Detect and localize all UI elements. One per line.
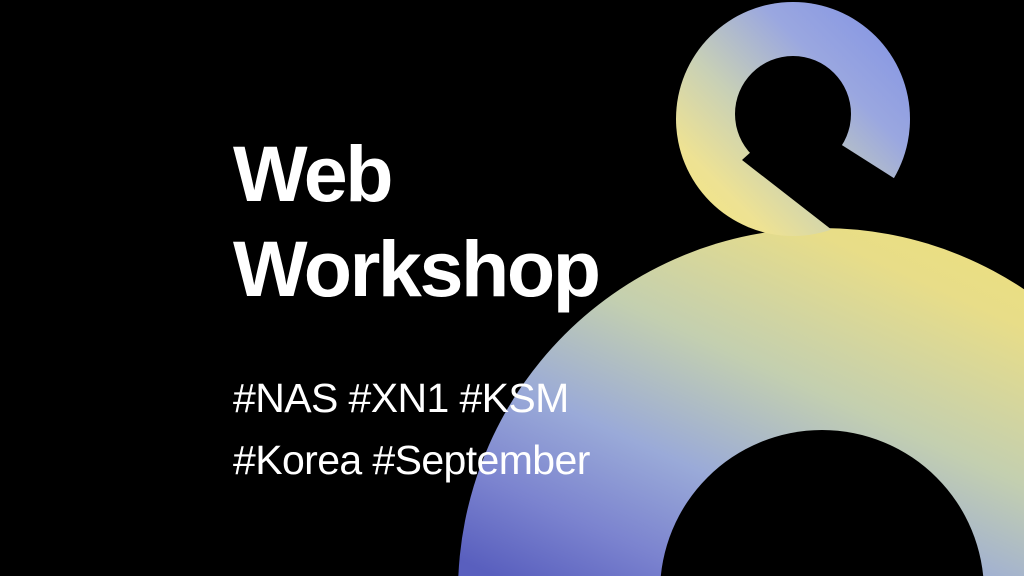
- subtitle-line-2: #Korea #September: [233, 429, 793, 491]
- page-title: Web Workshop: [233, 126, 753, 316]
- title-line-2: Workshop: [233, 221, 753, 316]
- subtitle-hashtags: #NAS #XN1 #KSM #Korea #September: [233, 367, 793, 491]
- subtitle-line-1: #NAS #XN1 #KSM: [233, 367, 793, 429]
- title-line-1: Web: [233, 126, 753, 221]
- presentation-slide: Web Workshop #NAS #XN1 #KSM #Korea #Sept…: [0, 0, 1024, 576]
